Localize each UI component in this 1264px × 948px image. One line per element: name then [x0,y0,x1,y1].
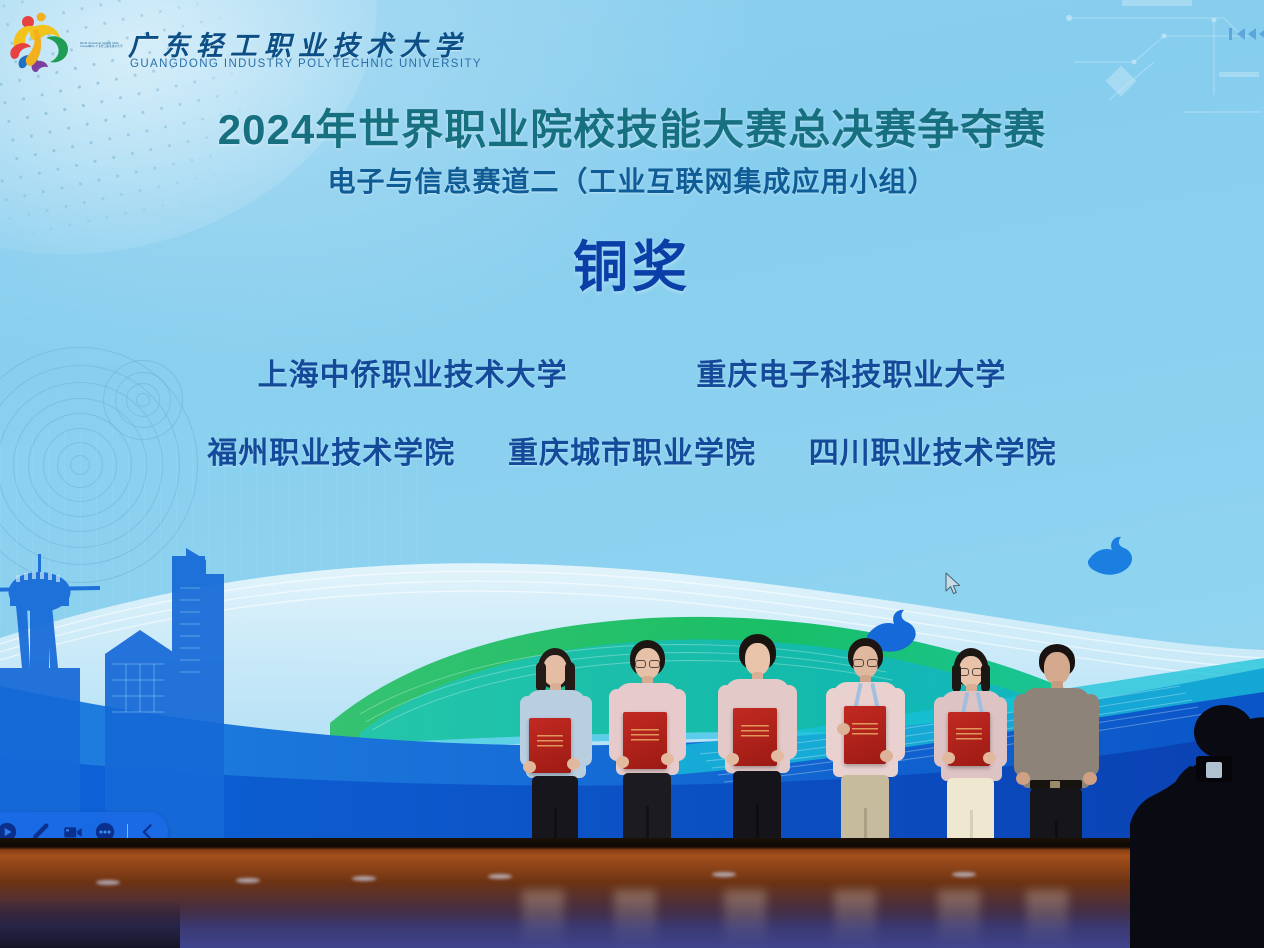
video-camera-icon[interactable] [60,817,86,838]
photographer-silhouette [1120,700,1264,948]
school-name: 四川职业技术学院 [809,437,1057,470]
school-name: 上海中侨职业技术大学 [258,359,568,392]
person-presenter [1010,644,1104,838]
person-student-3 [712,634,802,838]
screenshot-root: 2024年世界职业院校技能大赛总决赛争夺赛 电子与信息赛道二（工业互联网集成应用… [0,0,1264,948]
led-backdrop-screen: 2024年世界职业院校技能大赛总决赛争夺赛 电子与信息赛道二（工业互联网集成应用… [0,0,1264,838]
back-chevron-icon[interactable] [135,817,161,838]
university-logo-block: World Vocational College Skills Competit… [8,8,378,80]
page-subtitle: 电子与信息赛道二（工业互联网集成应用小组） [0,160,1264,200]
logo-badge-text: World Vocational College Skills Competit… [80,42,126,49]
person-student-1 [512,648,598,838]
logo-english-name: GUANGDONG INDUSTRY POLYTECHNIC UNIVERSIT… [130,58,482,70]
pen-icon[interactable] [27,817,53,838]
floor-light-sheen [0,914,1264,948]
person-student-2 [603,640,691,838]
page-title: 2024年世界职业院校技能大赛总决赛争夺赛 [0,96,1264,157]
school-name: 重庆城市职业学院 [508,437,756,470]
stage-floor [0,838,1264,948]
university-emblem-icon [8,10,76,72]
floating-presentation-toolbar[interactable] [0,812,168,838]
school-list-row-2: 福州职业技术学院 重庆城市职业学院 四川职业技术学院 [0,428,1264,472]
award-title: 铜奖 [0,222,1264,302]
person-student-4 [820,638,910,838]
school-name: 福州职业技术学院 [207,437,455,470]
toolbar-separator [127,824,128,838]
more-options-icon[interactable] [92,817,118,838]
school-list-row-1: 上海中侨职业技术大学 重庆电子科技职业大学 [0,350,1264,394]
school-name: 重庆电子科技职业大学 [696,359,1006,392]
person-student-5 [928,648,1014,838]
play-icon[interactable] [0,817,20,838]
mouse-pointer-icon [944,572,962,596]
foreground-shadow-left [0,900,180,948]
